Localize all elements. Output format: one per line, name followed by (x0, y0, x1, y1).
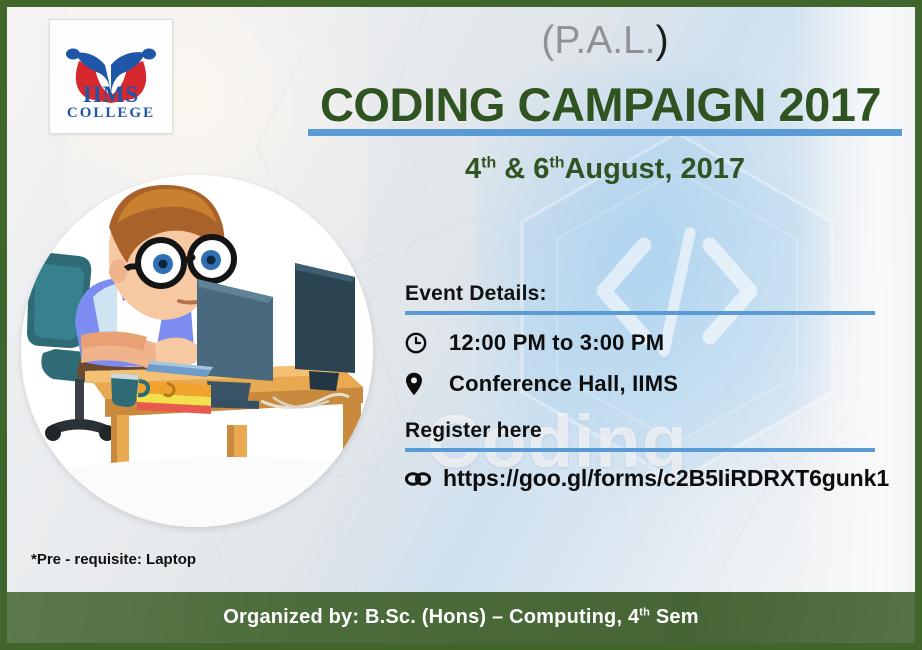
date-month-year: August, 2017 (564, 153, 745, 185)
boy-coding-at-desk-icon (21, 175, 373, 527)
date-conjunction: & (504, 153, 525, 185)
detail-row-time: 12:00 PM to 3:00 PM (405, 330, 875, 356)
organizer-semester-suffix: th (639, 606, 650, 618)
organizer-credit: Organized by: B.Sc. (Hons) – Computing, … (223, 606, 698, 629)
date-day2: 6 (533, 153, 549, 185)
registration-url[interactable]: https://goo.gl/forms/c2B5IiRDRXT6gunk1 (443, 465, 889, 492)
link-icon-glyph (405, 472, 431, 486)
page-title: CODING CAMPAIGN 2017 (293, 77, 908, 132)
logo-text-college: COLLEGE (50, 105, 172, 122)
title-underline-rule (308, 129, 902, 136)
location-pin-icon (405, 372, 449, 396)
event-details-heading: Event Details: (405, 282, 875, 306)
boy-coding-illustration (21, 175, 373, 527)
register-url-row[interactable]: https://goo.gl/forms/c2B5IiRDRXT6gunk1 (405, 465, 875, 492)
detail-row-venue: Conference Hall, IIMS (405, 371, 875, 397)
link-icon (405, 472, 443, 486)
date-day1: 4 (465, 153, 481, 185)
date-day1-suffix: th (481, 154, 496, 171)
clock-icon (405, 332, 449, 354)
event-venue-value: Conference Hall, IIMS (449, 371, 678, 397)
event-time-value: 12:00 PM to 3:00 PM (449, 330, 664, 356)
event-poster: Coding Technology IIMS COLLEGE (P.A.L.) … (0, 0, 922, 650)
organizer-prefix: Organized by: B.Sc. (Hons) – Computing, … (223, 606, 639, 628)
acronym-closing-paren: ) (656, 19, 669, 62)
iims-college-logo: IIMS COLLEGE (49, 19, 173, 134)
event-date: 4th & 6thAugust, 2017 (307, 153, 903, 186)
register-underline (405, 448, 875, 452)
register-heading: Register here (405, 419, 875, 443)
date-day2-suffix: th (549, 154, 564, 171)
event-info-panel: Event Details: 12:00 PM to 3:00 PM Confe… (405, 282, 875, 492)
location-pin-icon-glyph (405, 372, 423, 396)
prerequisite-note: *Pre - requisite: Laptop (31, 551, 196, 568)
acronym-main: (P.A.L. (541, 19, 655, 62)
organizer-suffix: Sem (650, 606, 699, 628)
footer-band: Organized by: B.Sc. (Hons) – Computing, … (7, 592, 915, 643)
program-acronym: (P.A.L.) (307, 19, 903, 63)
event-details-underline (405, 311, 875, 315)
clock-icon-glyph (405, 332, 427, 354)
